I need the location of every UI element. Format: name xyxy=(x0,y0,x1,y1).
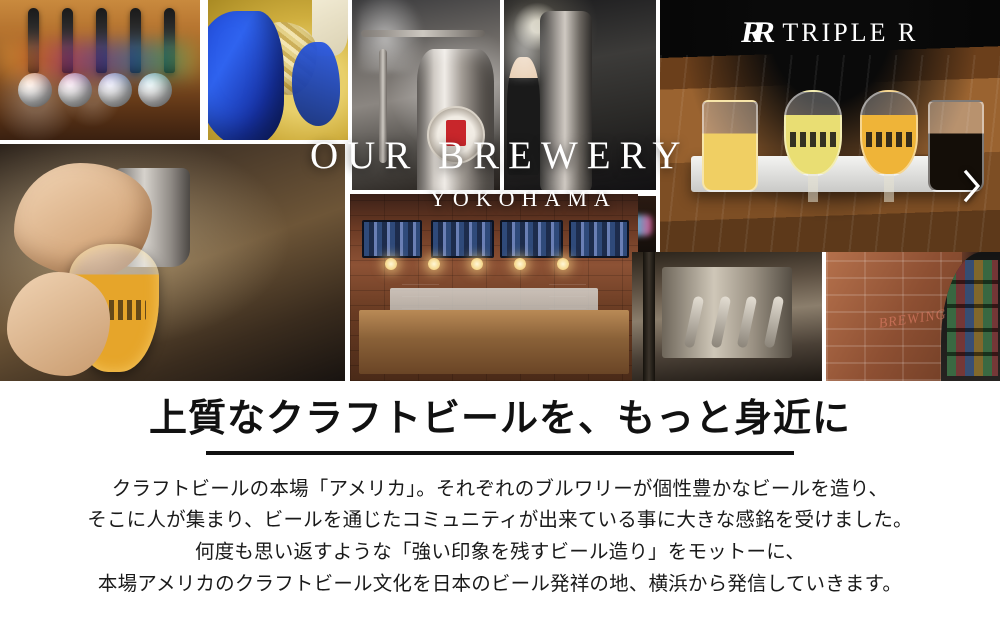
triple-r-monogram-icon: RR xyxy=(739,18,776,48)
photo-malt-grain[interactable] xyxy=(208,0,348,140)
photo-beer-flight[interactable]: RR TRIPLE R xyxy=(660,0,1000,252)
photo-brew-kettle[interactable] xyxy=(352,0,500,190)
title-underline-divider xyxy=(206,451,794,455)
photo-pouring-beer[interactable] xyxy=(0,144,345,381)
intro-text-section: 上質なクラフトビールを、もっと身近に クラフトビールの本場「アメリカ」。それぞれ… xyxy=(0,381,1000,621)
photo-brewer-at-tank[interactable] xyxy=(504,0,656,190)
triple-r-logo: RR TRIPLE R xyxy=(742,18,918,48)
photo-beer-taps[interactable] xyxy=(0,0,200,140)
page-root: RR TRIPLE R xyxy=(0,0,1000,621)
photo-taproom-bar[interactable] xyxy=(350,194,638,381)
photo-canning-machine[interactable] xyxy=(632,252,822,381)
intro-line-4: 本場アメリカのクラフトビール文化を日本のビール発祥の地、横浜から発信していきます… xyxy=(0,568,1000,600)
hero-photo-collage: RR TRIPLE R xyxy=(0,0,1000,381)
page-title: 上質なクラフトビールを、もっと身近に xyxy=(0,381,1000,441)
intro-line-1: クラフトビールの本場「アメリカ」。それぞれのブルワリーが個性豊かなビールを造り、 xyxy=(0,473,1000,505)
intro-line-3: 何度も思い返すような「強い印象を残すビール造り」をモットーに、 xyxy=(0,536,1000,568)
intro-line-2: そこに人が集まり、ビールを通じたコミュニティが出来ている事に大きな感銘を受けまし… xyxy=(0,504,1000,536)
triple-r-wordmark: TRIPLE R xyxy=(782,20,918,46)
photo-brick-wall-fridge[interactable]: BREWING xyxy=(826,252,1000,381)
intro-paragraphs: クラフトビールの本場「アメリカ」。それぞれのブルワリーが個性豊かなビールを造り、… xyxy=(0,473,1000,600)
chevron-right-icon[interactable] xyxy=(958,165,986,207)
